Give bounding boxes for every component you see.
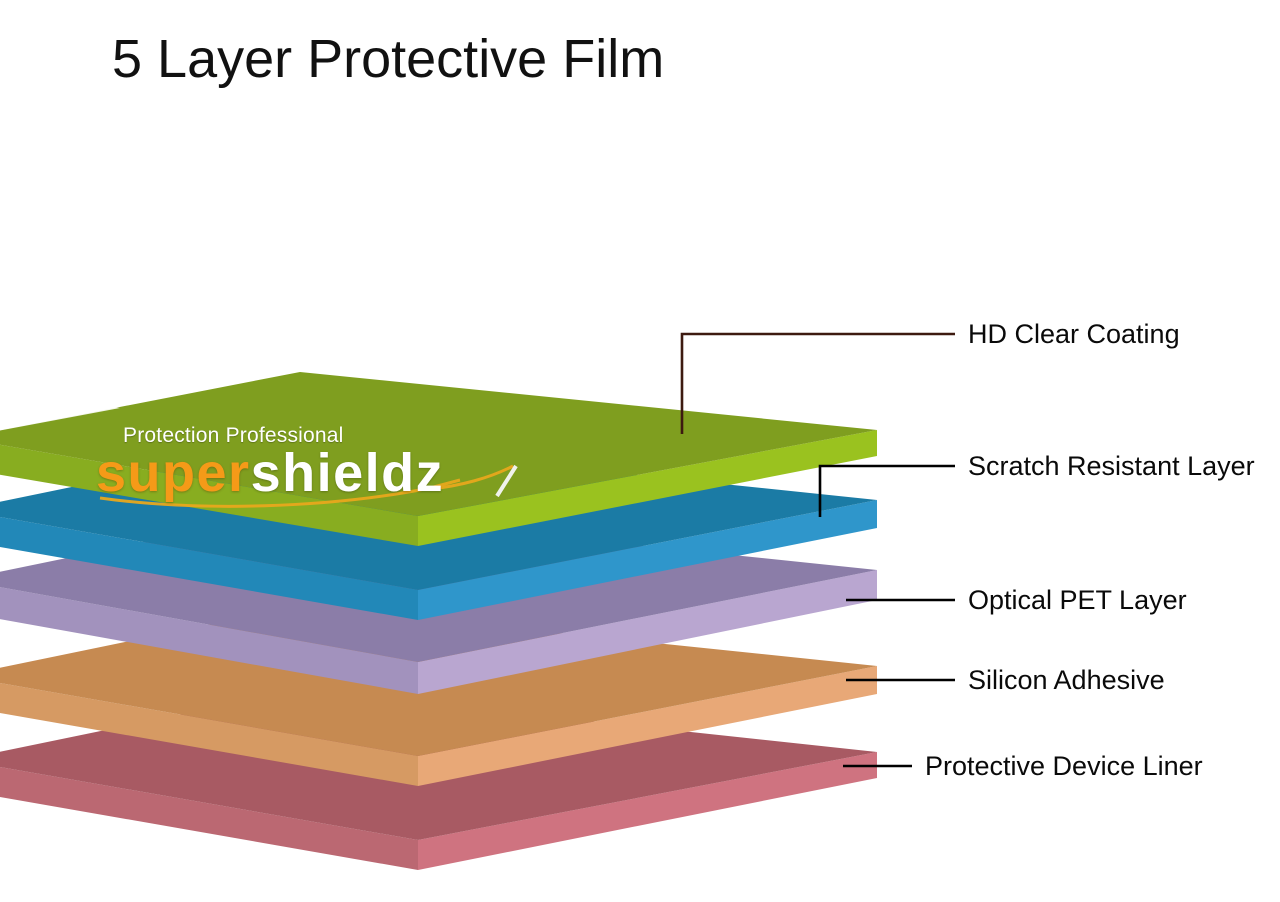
page-title: 5 Layer Protective Film — [112, 30, 664, 89]
label-scratch-resistant-layer: Scratch Resistant Layer — [968, 453, 1255, 480]
label-protective-device-liner: Protective Device Liner — [925, 753, 1203, 780]
label-optical-pet-layer: Optical PET Layer — [968, 587, 1187, 614]
label-hd-clear-coating: HD Clear Coating — [968, 321, 1180, 348]
label-silicon-adhesive: Silicon Adhesive — [968, 667, 1165, 694]
diagram-canvas: 5 Layer Protective Film Protection Profe… — [0, 0, 1280, 902]
